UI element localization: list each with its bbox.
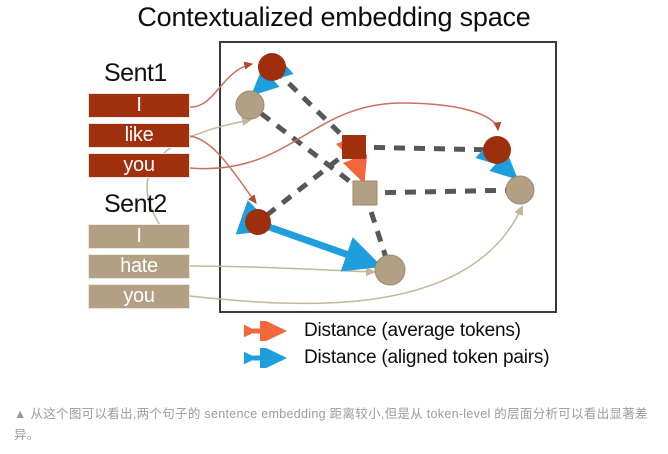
node-s1-token-I[interactable] (258, 53, 286, 81)
sentence-2-label: Sent2 (104, 190, 167, 219)
legend-item-average: Distance (average tokens) (244, 320, 521, 342)
node-s2-token-I[interactable] (236, 91, 264, 119)
node-s1-token-you[interactable] (483, 136, 511, 164)
figure-container: Contextualized embedding space (0, 0, 668, 400)
sent2-token-I[interactable]: I (88, 224, 190, 249)
legend-label-average: Distance (average tokens) (304, 320, 521, 342)
double-arrow-blue-icon (244, 348, 292, 368)
sent2-token-you[interactable]: you (88, 284, 190, 309)
sent1-token-I[interactable]: I (88, 93, 190, 118)
figure-caption: ▲ 从这个图可以看出,两个句子的 sentence embedding 距离较小… (14, 404, 654, 446)
node-s2-token-you[interactable] (506, 176, 534, 204)
node-s1-centroid[interactable] (342, 135, 366, 159)
sent1-token-you[interactable]: you (88, 153, 190, 178)
sentence-1-label: Sent1 (104, 59, 167, 88)
double-arrow-orange-icon (244, 321, 292, 341)
node-s2-token-hate[interactable] (375, 255, 405, 285)
legend-label-aligned: Distance (aligned token pairs) (304, 347, 549, 369)
node-s2-centroid[interactable] (353, 181, 377, 205)
legend-item-aligned: Distance (aligned token pairs) (244, 347, 549, 369)
sent1-token-like[interactable]: like (88, 123, 190, 148)
sent2-token-hate[interactable]: hate (88, 254, 190, 279)
node-s1-token-like[interactable] (245, 209, 271, 235)
